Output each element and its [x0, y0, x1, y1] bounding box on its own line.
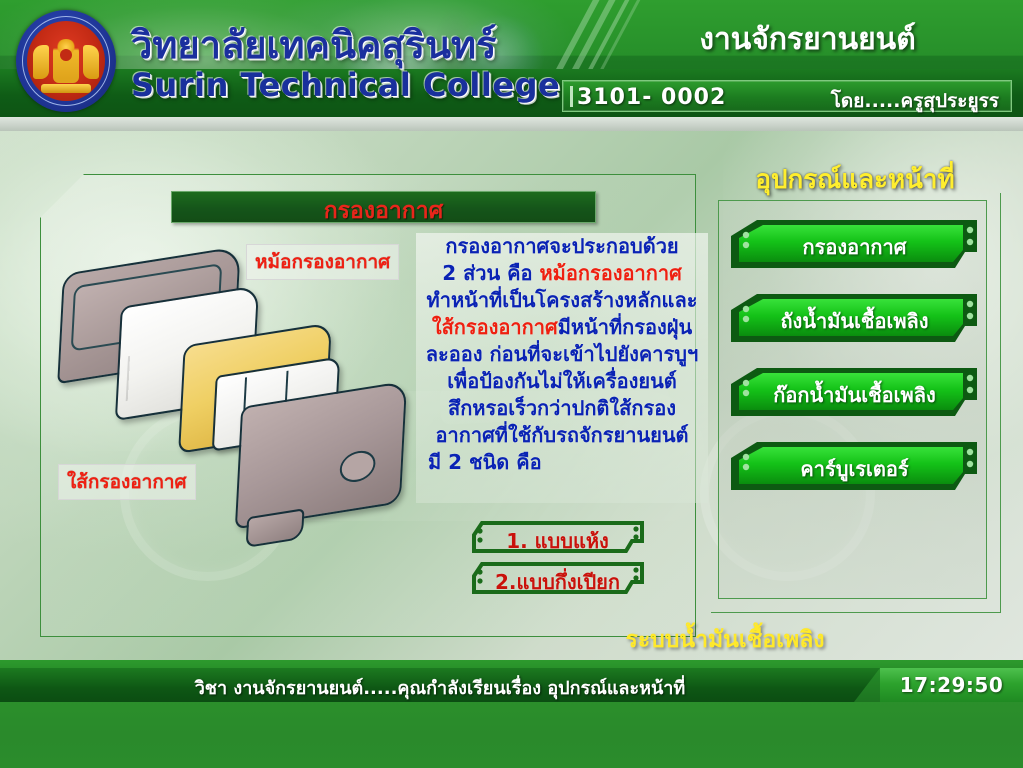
- sidebar-item-fuel-cock[interactable]: ก๊อกน้ำมันเชื้อเพลิง: [727, 366, 982, 424]
- body-line-9: มี 2 ชนิด คือ: [420, 449, 704, 476]
- presentation-slide: วิทยาลัยเทคนิคสุรินทร์ Surin Technical C…: [0, 0, 1023, 768]
- body-line-2: 2 ส่วน คือ หม้อกรองอากาศ: [420, 260, 704, 287]
- body-line-4-highlight: ใส้กรองอากาศ: [432, 315, 558, 339]
- system-section-label: ระบบน้ำมันเชื้อเพลิง: [560, 622, 890, 658]
- body-line-3: ทำหน้าที่เป็นโครงสร้างหลักและ: [420, 287, 704, 314]
- course-code-bar: 3101- 0002 โดย.....ครูสุประยูรร: [562, 80, 1012, 112]
- sidebar-item-fuel-tank-label: ถังน้ำมันเชื้อเพลิง: [753, 305, 956, 337]
- navigation-bar: คำแนะนำ กลับ: [0, 702, 1023, 768]
- body-line-1: กรองอากาศจะประกอบด้วย: [420, 233, 704, 260]
- content-title-text: กรองอากาศ: [172, 193, 595, 229]
- header-bottom-divider: [0, 117, 1023, 131]
- sidebar-item-carburetor-label: คาร์บูเรเตอร์: [753, 453, 956, 485]
- course-code: 3101- 0002: [577, 85, 726, 110]
- clock-display: 17:29:50: [880, 668, 1023, 702]
- status-bar: วิชา งานจักรยานยนต์.....คุณกำลังเรียนเรื…: [0, 668, 880, 702]
- college-name-english: Surin Technical College: [131, 66, 560, 104]
- illustration-label-top: หม้อกรองอากาศ: [246, 244, 399, 280]
- option-button-semi-wet-type[interactable]: 2.แบบกึ่งเปียก: [466, 562, 649, 596]
- filter-housing-part: [235, 381, 407, 530]
- body-line-4-tail: มีหน้าที่กรองฝุ่น: [558, 315, 692, 339]
- subject-title: งานจักรยานยนต์: [600, 16, 1015, 63]
- body-text-block: กรองอากาศจะประกอบด้วย 2 ส่วน คือ หม้อกรอ…: [416, 233, 708, 503]
- page-header: วิทยาลัยเทคนิคสุรินทร์ Surin Technical C…: [0, 0, 1023, 131]
- body-paragraph: กรองอากาศจะประกอบด้วย 2 ส่วน คือ หม้อกรอ…: [416, 233, 708, 476]
- clock-time: 17:29:50: [880, 673, 1023, 697]
- sidebar-item-carburetor[interactable]: คาร์บูเรเตอร์: [727, 440, 982, 498]
- body-line-7: สึกหรอเร็วกว่าปกติใส้กรอง: [420, 395, 704, 422]
- option-button-semi-wet-type-label: 2.แบบกึ่งเปียก: [466, 566, 649, 598]
- college-seal-logo: [10, 8, 122, 114]
- body-line-6: เพื่อป้องกันไม่ให้เครื่องยนต์: [420, 368, 704, 395]
- sidebar-item-fuel-tank[interactable]: ถังน้ำมันเชื้อเพลิง: [727, 292, 982, 350]
- code-tick-mark: [570, 86, 573, 107]
- sidebar-item-air-filter-label: กรองอากาศ: [753, 231, 956, 263]
- sidebar-menu-panel: กรองอากาศ ถังน้ำมันเชื้อเพลิง: [718, 200, 987, 599]
- body-line-2-head: 2 ส่วน คือ: [442, 261, 539, 285]
- status-bar-text: วิชา งานจักรยานยนต์.....คุณกำลังเรียนเรื…: [0, 673, 880, 702]
- content-title-bar: กรองอากาศ: [171, 191, 596, 223]
- option-button-dry-type[interactable]: 1. แบบแห้ง: [466, 521, 649, 555]
- body-line-2-highlight: หม้อกรองอากาศ: [540, 261, 682, 285]
- sidebar-item-fuel-cock-label: ก๊อกน้ำมันเชื้อเพลิง: [753, 379, 956, 411]
- option-button-dry-type-label: 1. แบบแห้ง: [466, 525, 649, 557]
- illustration-label-bottom: ใส้กรองอากาศ: [58, 464, 196, 500]
- author-credit: โดย.....ครูสุประยูรร: [831, 86, 999, 116]
- body-line-8: อากาศที่ใช้กับรถจักรยานยนต์: [420, 422, 704, 449]
- body-line-5: ละออง ก่อนที่จะเข้าไปยังคารบูฯ: [420, 341, 704, 368]
- body-line-4: ใส้กรองอากาศมีหน้าที่กรองฝุ่น: [420, 314, 704, 341]
- sidebar-item-air-filter[interactable]: กรองอากาศ: [727, 218, 982, 276]
